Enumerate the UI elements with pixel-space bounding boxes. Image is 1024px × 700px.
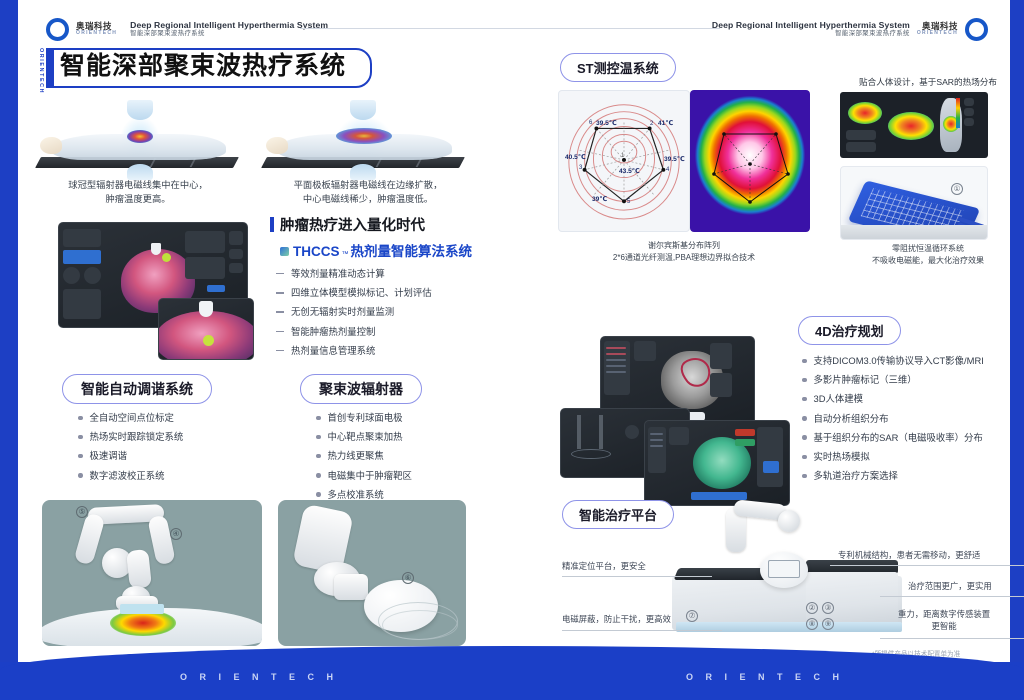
list-item: 多轨道治疗方案选择 (802, 470, 1016, 482)
planning-item-5: 实时热场模拟 (814, 451, 870, 463)
temp-label-4: 39.5℃ (664, 155, 685, 163)
illustration-flat-plate (258, 100, 470, 174)
thermal-heatmap (690, 90, 810, 232)
planning-item-0: 支持DICOM3.0传输协议导入CT影像/MRI (814, 355, 984, 367)
list-item: 全自动空间点位标定 (78, 412, 262, 424)
list-item: 首创专利球面电极 (316, 412, 510, 424)
pad-panel-caption: 零阻扰恒温循环系统 不吸收电磁能，最大化治疗效果 (838, 243, 1018, 268)
ring-logo-icon (46, 18, 69, 41)
header-title-en: Deep Regional Intelligent Hyperthermia S… (130, 20, 328, 30)
list-item: 无创无辐射实时剂量监测 (276, 306, 520, 318)
planning-item-6: 多轨道治疗方案选择 (814, 470, 898, 482)
badge-four: ④ (170, 528, 182, 540)
cooling-pad-image: ① (840, 166, 988, 240)
node-label-4: 4 (666, 167, 669, 173)
thccs-brand: THCCS (293, 244, 340, 259)
dash-bullet-icon (276, 273, 284, 274)
brand-name-en: ORIENTECH (76, 31, 117, 36)
planning-item-4: 基于组织分布的SAR（电磁吸收率）分布 (814, 432, 983, 444)
st-caption-line1: 谢尔宾斯基分布阵列 (558, 240, 810, 252)
thccs-headline: 肿瘤热疗进入量化时代 (280, 214, 425, 235)
applicator-list: 首创专利球面电极 中心靶点聚束加热 热力线更聚焦 电磁集中于肿瘤靶区 多点校准系… (316, 412, 510, 501)
node-label-6: 6 (589, 120, 592, 126)
temp-label-3: 40.5℃ (565, 153, 586, 161)
applicator-item-1: 中心靶点聚束加热 (328, 431, 403, 443)
page-title: ORIENTECH 智能深部聚束波热疗系统 (38, 48, 372, 88)
badge-one: ① (951, 183, 963, 195)
dot-bullet-icon (802, 455, 807, 460)
st-caption-line2: 2*6通道光纤测温,PBA理想边界拟合技术 (558, 252, 810, 264)
thccs-item-0: 等效剂量精准动态计算 (291, 268, 385, 280)
dot-bullet-icon (78, 473, 83, 478)
leader-line-right-3 (880, 638, 1024, 639)
list-item: 电磁集中于肿瘤靶区 (316, 470, 510, 482)
dot-bullet-icon (316, 435, 321, 440)
thccs-subtitle: 热剂量智能算法系统 (351, 240, 473, 260)
leader-line-right-2 (880, 596, 1024, 597)
badge-seven: ⑦ (686, 610, 698, 622)
dot-bullet-icon (802, 435, 807, 440)
caption-flat-line1: 平面极板辐射器电磁线在边缘扩散， (255, 178, 481, 192)
planning-item-1: 多影片肿瘤标记（三维） (814, 374, 917, 386)
dash-bullet-icon (276, 350, 284, 351)
platform-annotation-right-3: 重力，距离数字传感装置 更智能 (898, 608, 990, 632)
badge-nine: ⑨ (822, 618, 834, 630)
thccs-trademark: ™ (342, 251, 349, 258)
caption-flat-line2: 中心电磁线稀少，肿瘤温度低。 (255, 192, 481, 206)
st-system-caption: 谢尔宾斯基分布阵列 2*6通道光纤测温,PBA理想边界拟合技术 (558, 240, 810, 265)
planning-4d-list: 支持DICOM3.0传输协议导入CT影像/MRI 多影片肿瘤标记（三维） 3D人… (802, 355, 1016, 483)
platform-annotation-left-1: 精准定位平台，更安全 (562, 560, 646, 572)
platform-annotation-right-2: 治疗范围更广，更实用 (908, 580, 992, 592)
dot-bullet-icon (802, 474, 807, 479)
dash-bullet-icon (276, 331, 284, 332)
st-system-title: ST测控温系统 (560, 53, 676, 82)
footer-bar: O R I E N T E C H O R I E N T E C H (0, 662, 1024, 700)
badge-six: ⑥ (402, 572, 414, 584)
platform-title: 智能治疗平台 (562, 500, 674, 529)
list-item: 热力线更聚焦 (316, 450, 510, 462)
pad-caption-line1: 零阻扰恒温循环系统 (838, 243, 1018, 255)
platform-arm-joint (778, 510, 800, 532)
list-item: 热剂量信息管理系统 (276, 345, 520, 357)
applicator-item-2: 热力线更聚焦 (328, 450, 384, 462)
thccs-accent-bar (270, 217, 274, 232)
dot-bullet-icon (78, 416, 83, 421)
dot-bullet-icon (316, 454, 321, 459)
footer-brand-right: O R I E N T E C H (686, 672, 844, 682)
applicator-section: 聚束波辐射器 首创专利球面电极 中心靶点聚束加热 热力线更聚焦 电磁集中于肿瘤靶… (300, 374, 510, 508)
poster-page: 奥瑞科技 ORIENTECH Deep Regional Intelligent… (0, 0, 1024, 700)
platform-display (768, 560, 800, 578)
list-item: 基于组织分布的SAR（电磁吸收率）分布 (802, 432, 1016, 444)
auto-tuning-item-2: 极速调谐 (90, 450, 128, 462)
node-label-1: 1 (621, 153, 624, 159)
platform-annotation-right-1: 专利机械结构，患者无需移动，更舒适 (838, 549, 980, 561)
platform-section: 智能治疗平台 (562, 500, 674, 529)
console-screen-detail (158, 298, 254, 360)
list-item: 中心靶点聚束加热 (316, 431, 510, 443)
node-label-3: 3 (579, 165, 582, 171)
temp-label-1: 43.5℃ (619, 167, 640, 175)
sar-panel-caption: 贴合人体设计，基于SAR的热场分布 (836, 76, 1020, 88)
dot-bullet-icon (78, 454, 83, 459)
sar-console-image (840, 92, 988, 158)
list-item: 智能肿瘤热剂量控制 (276, 326, 520, 338)
brand-name-en-right: ORIENTECH (917, 31, 958, 36)
applicator-item-3: 电磁集中于肿瘤靶区 (328, 470, 412, 482)
header-title-cn-right: 智能深部聚束波热疗系统 (712, 30, 910, 38)
thccs-feature-list: 等效剂量精准动态计算 四维立体模型模拟标记、计划评估 无创无辐射实时剂量监测 智… (276, 268, 520, 357)
list-item: 多影片肿瘤标记（三维） (802, 374, 1016, 386)
caption-spherical-line1: 球冠型辐射器电磁线集中在中心， (32, 178, 244, 192)
dot-bullet-icon (802, 397, 807, 402)
caption-flat-plate: 平面极板辐射器电磁线在边缘扩散， 中心电磁线稀少，肿瘤温度低。 (255, 178, 481, 207)
thccs-item-2: 无创无辐射实时剂量监测 (291, 306, 394, 318)
auto-tuning-section: 智能自动调谐系统 全自动空间点位标定 热场实时跟踪锁定系统 极速调谐 数字滤波校… (62, 374, 262, 489)
dot-bullet-icon (802, 359, 807, 364)
thccs-item-1: 四维立体模型模拟标记、计划评估 (291, 287, 432, 299)
auto-tuning-item-1: 热场实时跟踪锁定系统 (90, 431, 184, 443)
robot-arm-photo-left: ⑤ ④ (42, 500, 262, 646)
leader-line-left-2 (562, 630, 722, 631)
thccs-item-4: 热剂量信息管理系统 (291, 345, 375, 357)
page-title-side-label: ORIENTECH (38, 48, 44, 88)
leader-line-right-1 (830, 565, 1024, 566)
applicator-item-0: 首创专利球面电极 (328, 412, 403, 424)
node-label-2: 2 (650, 121, 653, 127)
planning-screen-3d-lung (644, 420, 790, 506)
footer-brand-left: O R I E N T E C H (180, 672, 338, 682)
caption-spherical: 球冠型辐射器电磁线集中在中心， 肿瘤温度更高。 (32, 178, 244, 207)
pad-caption-line2: 不吸收电磁能，最大化治疗效果 (838, 255, 1018, 267)
applicator-photo-right: ⑥ (278, 500, 466, 646)
dot-bullet-icon (802, 378, 807, 383)
dot-bullet-icon (316, 473, 321, 478)
platform-annotation-right-3-line2: 更智能 (898, 620, 990, 632)
planning-item-3: 自动分析组织分布 (814, 413, 889, 425)
badge-eight: ⑧ (806, 618, 818, 630)
thccs-section: 肿瘤热疗进入量化时代 THCCS ™ 热剂量智能算法系统 等效剂量精准动态计算 … (270, 214, 520, 364)
list-item: 四维立体模型模拟标记、计划评估 (276, 287, 520, 299)
dash-bullet-icon (276, 311, 284, 312)
dash-bullet-icon (276, 292, 284, 293)
illustration-spherical (32, 100, 244, 174)
badge-three: ③ (822, 602, 834, 614)
planning-4d-title: 4D治疗规划 (798, 316, 901, 345)
header-divider-left (300, 28, 720, 29)
applicator-title: 聚束波辐射器 (300, 374, 422, 404)
dot-bullet-icon (316, 492, 321, 497)
sierpinski-distribution-chart: 6 39.5℃ 2 41℃ 40.5℃ 3 39.5℃ 4 1 43.5℃ 39… (558, 90, 690, 232)
node-label-5: 5 (627, 199, 630, 205)
temp-label-2: 41℃ (658, 119, 673, 127)
list-item: 支持DICOM3.0传输协议导入CT影像/MRI (802, 355, 1016, 367)
ring-logo-icon-right (965, 18, 988, 41)
list-item: 3D人体建模 (802, 393, 1016, 405)
badge-two: ② (806, 602, 818, 614)
st-system-section: ST测控温系统 (560, 53, 676, 82)
list-item: 等效剂量精准动态计算 (276, 268, 520, 280)
auto-tuning-list: 全自动空间点位标定 热场实时跟踪锁定系统 极速调谐 数字滤波校正系统 (78, 412, 262, 482)
auto-tuning-item-3: 数字滤波校正系统 (90, 470, 165, 482)
list-item: 极速调谐 (78, 450, 262, 462)
list-item: 数字滤波校正系统 (78, 470, 262, 482)
thccs-item-3: 智能肿瘤热剂量控制 (291, 326, 375, 338)
list-item: 实时热场模拟 (802, 451, 1016, 463)
list-item: 热场实时跟踪锁定系统 (78, 431, 262, 443)
thccs-logo-icon (280, 247, 289, 256)
dot-bullet-icon (316, 416, 321, 421)
dot-bullet-icon (802, 416, 807, 421)
list-item: 自动分析组织分布 (802, 413, 1016, 425)
header-title-en-right: Deep Regional Intelligent Hyperthermia S… (712, 20, 910, 30)
auto-tuning-title: 智能自动调谐系统 (62, 374, 212, 404)
dot-bullet-icon (78, 435, 83, 440)
planning-item-2: 3D人体建模 (814, 393, 864, 405)
planning-4d-section: 4D治疗规划 支持DICOM3.0传输协议导入CT影像/MRI 多影片肿瘤标记（… (798, 316, 1016, 490)
badge-five: ⑤ (76, 506, 88, 518)
header-title-cn: 智能深部聚束波热疗系统 (130, 30, 328, 38)
left-blue-rail (0, 0, 18, 662)
page-title-text: 智能深部聚束波热疗系统 (60, 53, 346, 81)
header-logo-right: Deep Regional Intelligent Hyperthermia S… (712, 14, 988, 44)
heatmap-overlay-polygon (690, 90, 810, 232)
leader-line-left-1 (562, 576, 712, 577)
header-logo-left: 奥瑞科技 ORIENTECH Deep Regional Intelligent… (46, 14, 328, 44)
auto-tuning-item-0: 全自动空间点位标定 (90, 412, 174, 424)
temp-label-6: 39.5℃ (596, 119, 617, 127)
temp-label-5: 39℃ (592, 195, 607, 203)
caption-spherical-line2: 肿瘤温度更高。 (32, 192, 244, 206)
platform-annotation-left-2: 电磁屏蔽，防止干扰，更高效 (562, 613, 671, 625)
platform-annotation-right-3-line1: 重力，距离数字传感装置 (898, 608, 990, 620)
